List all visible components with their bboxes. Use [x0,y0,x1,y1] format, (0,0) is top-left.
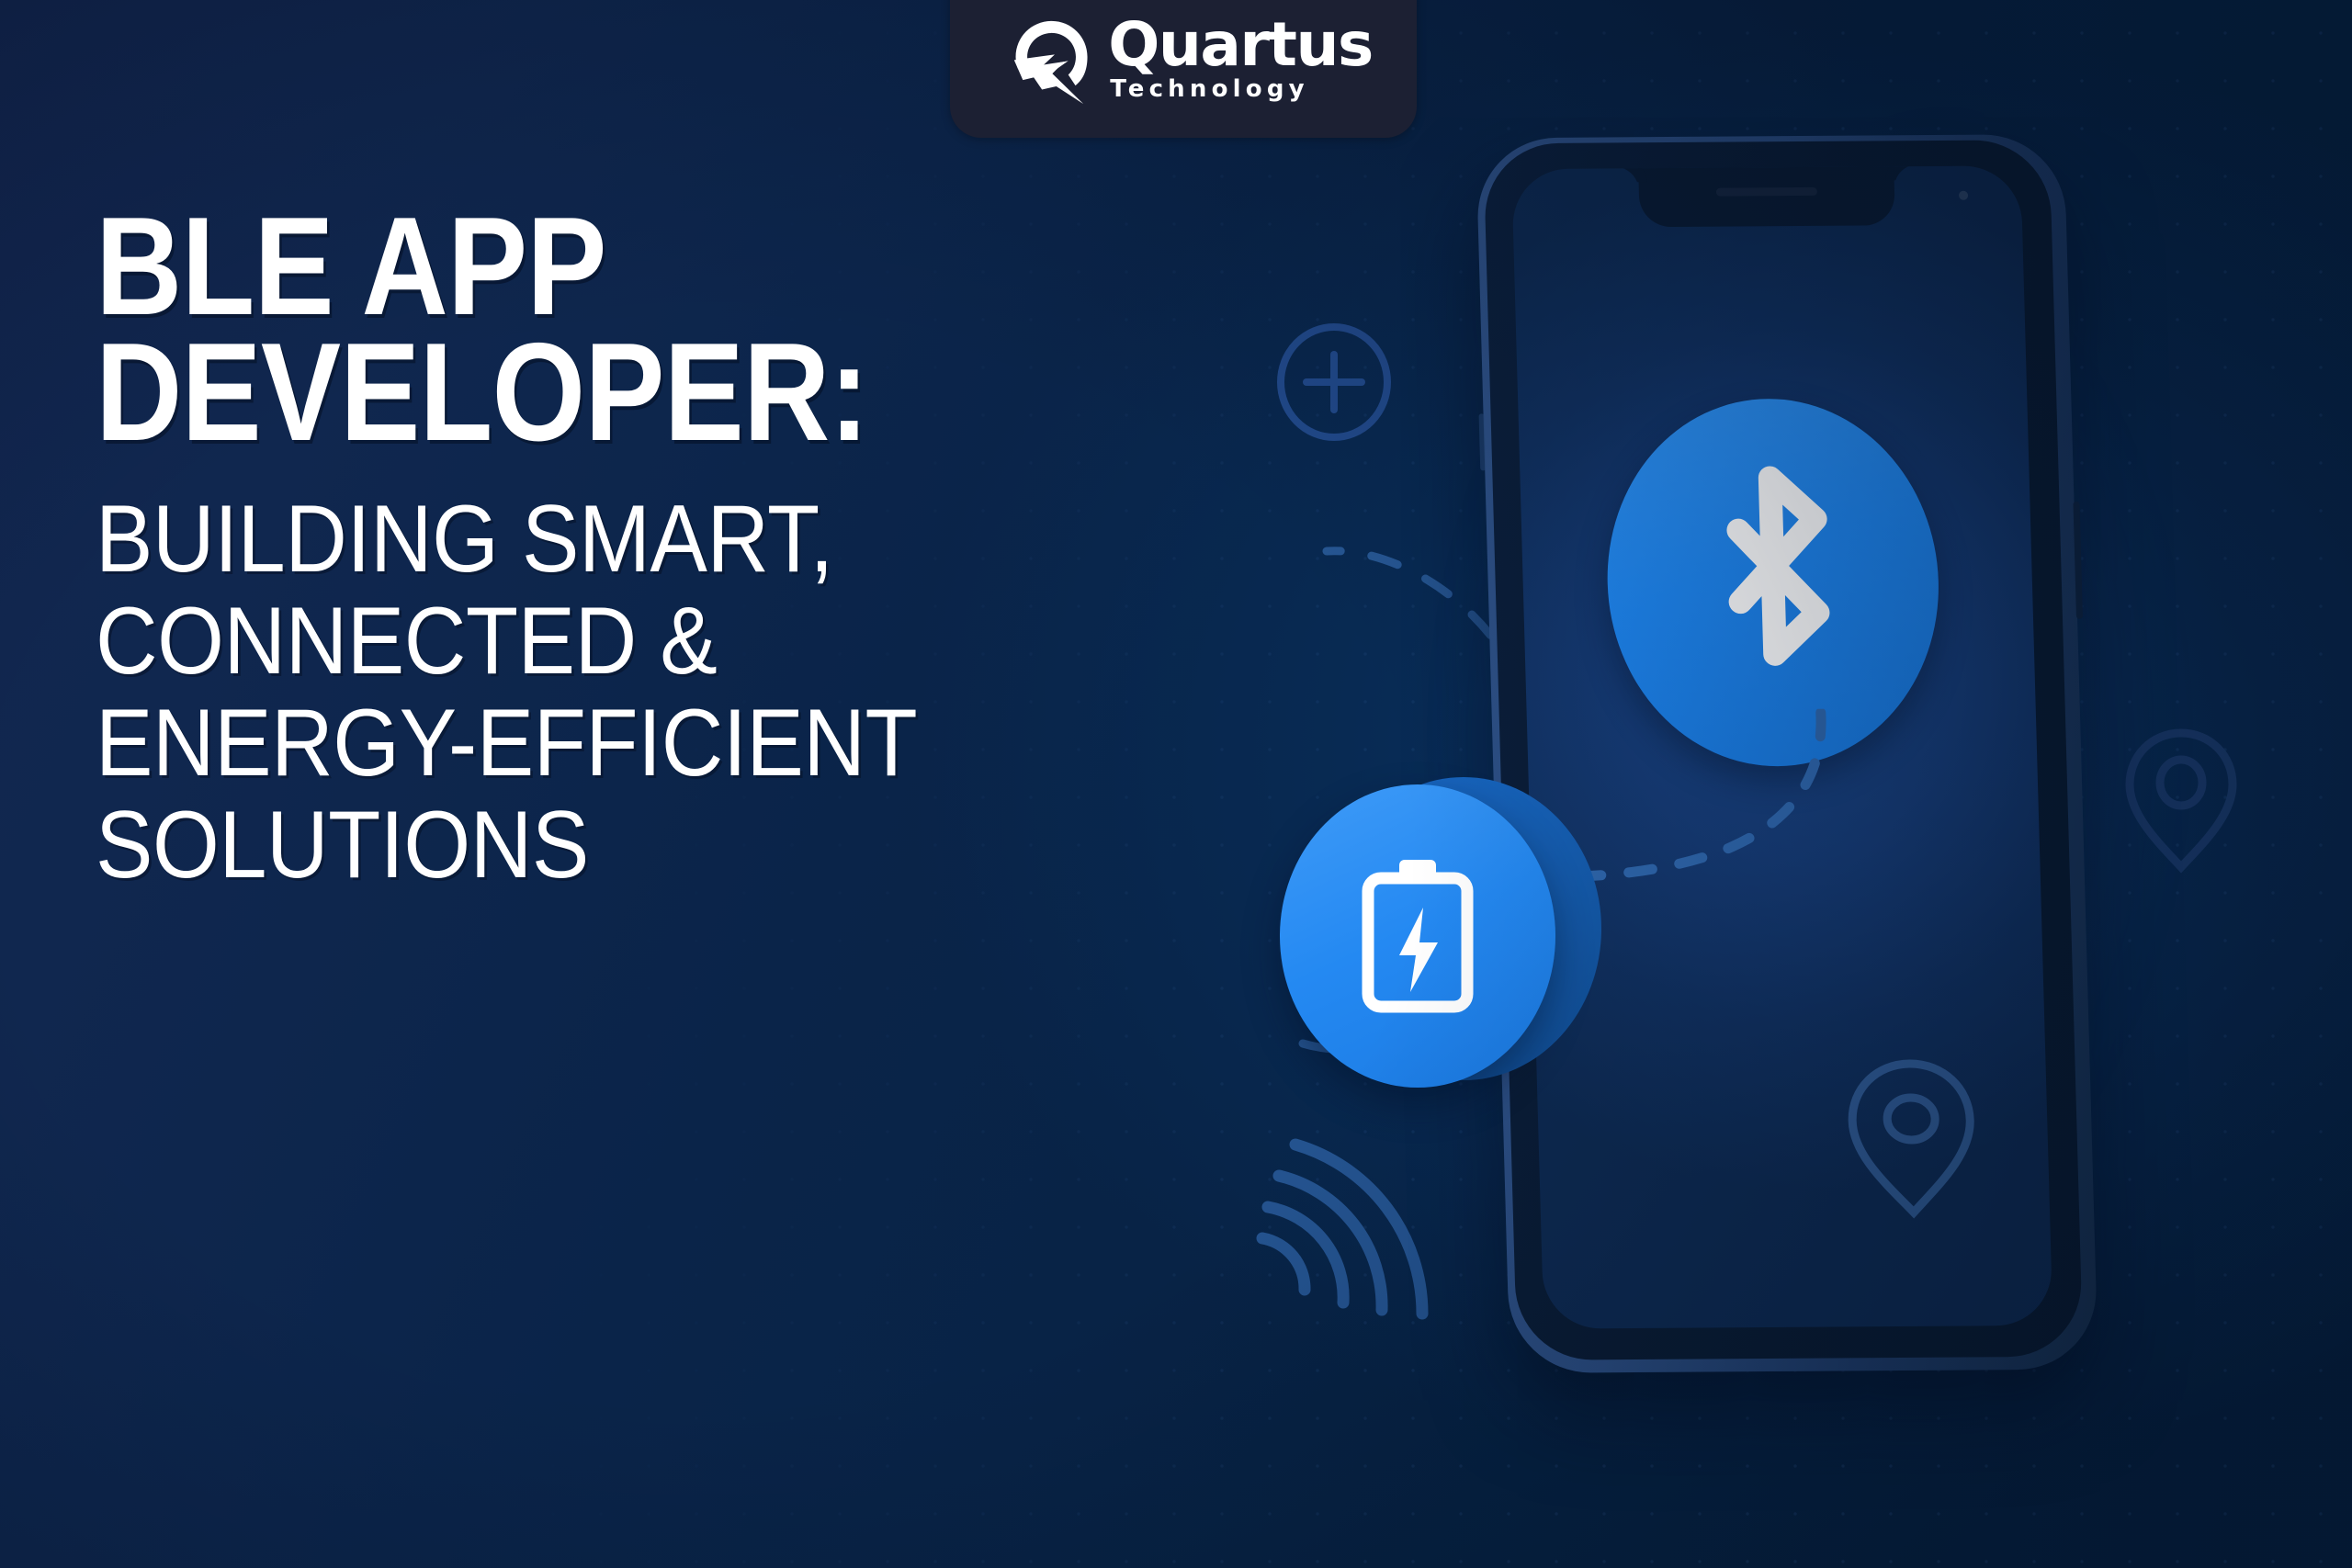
bluetooth-glyph [1686,458,1860,707]
phone-screen [1511,165,2052,1328]
earpiece-speaker-icon [1716,187,1817,197]
wireless-signal-icon [1242,1119,1518,1339]
location-pin-icon-screen [1841,1055,1982,1220]
dashed-connection-path-screen [1573,708,1947,950]
headline-line-1: BLE APP [96,204,1114,330]
add-plus-circle-icon [1275,323,1393,441]
headline-line-2: DEVELOPER: [96,330,1114,456]
brand-tagline: Technology [1110,77,1373,101]
battery-glyph [1359,854,1476,1018]
phone-body [1483,140,2083,1360]
smartphone-mockup [1476,134,2098,1373]
page-title: BLE APP DEVELOPER: [96,204,1114,456]
subheadline-line-1: BUILDING SMART, [96,489,1162,591]
quartus-q-swoosh-icon [1007,15,1102,110]
phone-notch [1638,165,1895,227]
subheadline-line-2: CONNECTED & [96,591,1162,693]
poster-canvas: Quartus Technology BLE APP DEVELOPER: BU… [0,0,2352,1568]
page-subtitle: BUILDING SMART, CONNECTED & ENERGY-EFFIC… [96,489,1162,897]
subheadline-line-4: SOLUTIONS [96,795,1162,897]
battery-disc [1280,784,1555,1088]
headline-block: BLE APP DEVELOPER: BUILDING SMART, CONNE… [96,204,1281,897]
front-camera-icon [1959,191,1968,200]
battery-charging-icon[interactable] [1272,762,1603,1102]
subheadline-line-3: ENERGY-EFFICIENT [96,693,1162,795]
brand-name: Quartus [1108,17,1373,73]
location-pin-icon-right [2120,726,2242,874]
brand-logo[interactable]: Quartus Technology [950,0,1417,138]
